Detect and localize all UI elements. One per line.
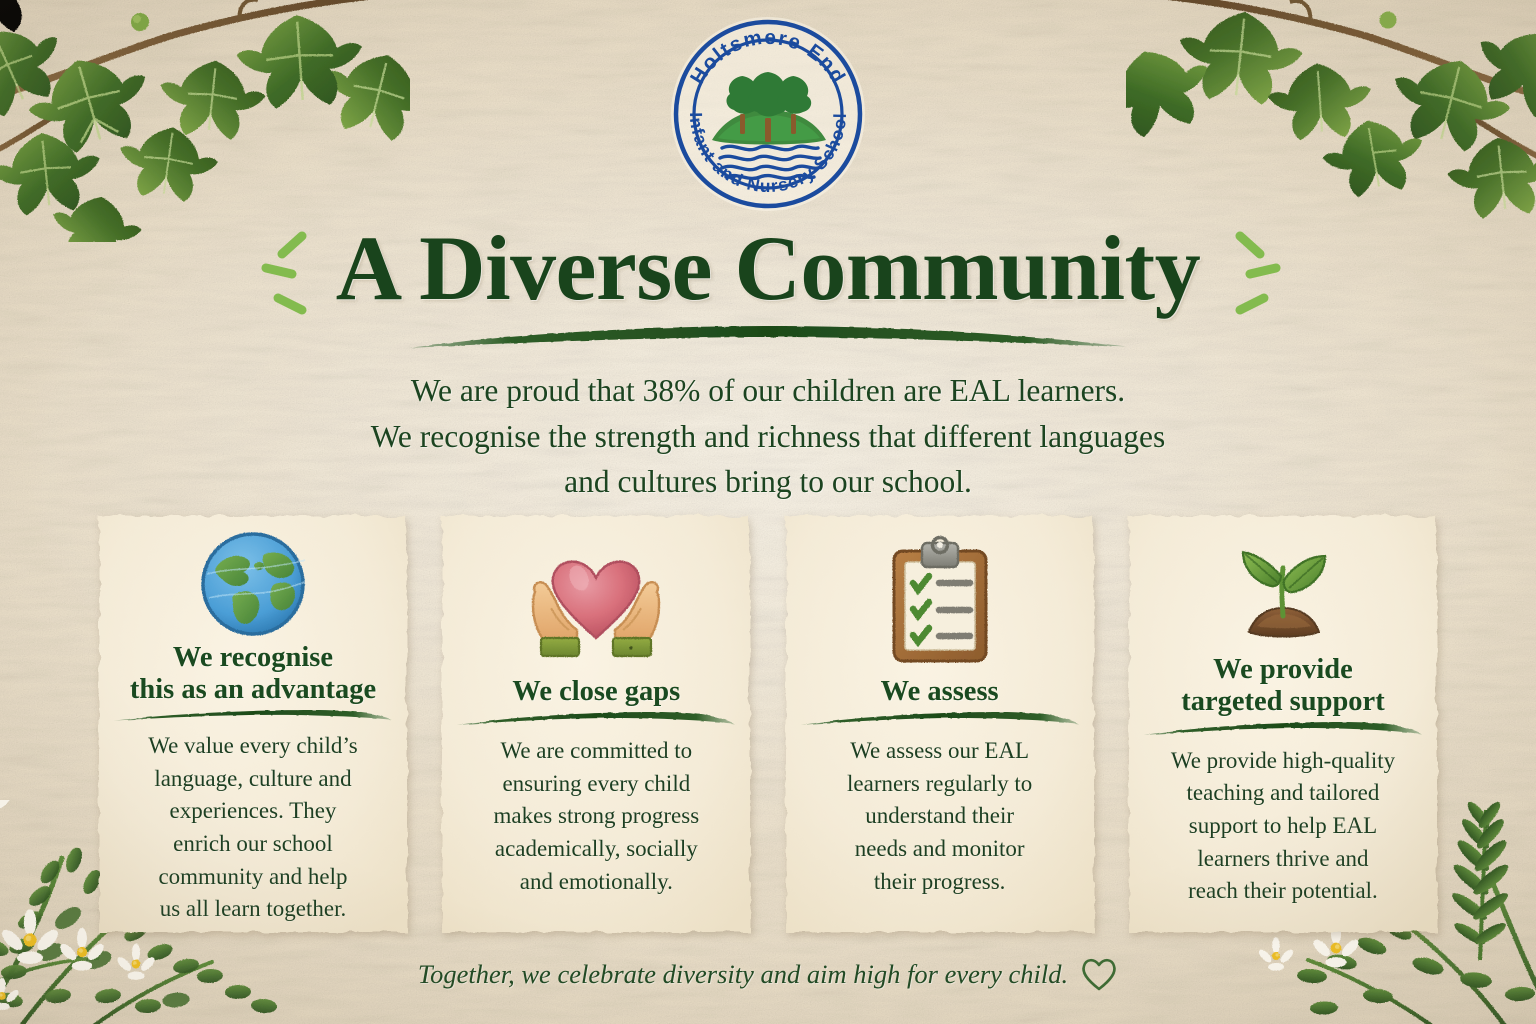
card-body: We provide high-quality teaching and tai… [1167,739,1399,908]
hands-holding-heart-icon [521,538,671,664]
card-body-line: ensuring every child [493,768,699,801]
card-divider-brush [799,712,1081,727]
subtitle-paragraph: We are proud that 38% of our children ar… [0,368,1536,505]
card-body-line: learners regularly to [847,768,1032,801]
footer-tagline: Together, we celebrate diversity and aim… [0,956,1536,992]
card-divider-brush [455,712,737,727]
card-body-line: understand their [847,800,1032,833]
subtitle-line-2: We recognise the strength and richness t… [0,414,1536,460]
heart-outline-icon [1080,956,1118,992]
sparkle-dashes-right-icon [1228,228,1284,324]
footer-text: Together, we celebrate diversity and aim… [418,959,1068,990]
card-body-line: We value every child’s [148,730,358,763]
card-heading-line-1: We recognise [130,642,376,674]
card-body: We assess our EAL learners regularly to … [843,729,1036,898]
card-we-recognise-this-as-an-advantage[interactable]: We recognise this as an advantage We val… [95,512,411,936]
card-body-line: experiences. They [148,795,358,828]
card-body-line: teaching and tailored [1171,777,1395,810]
card-heading: We close gaps [512,676,680,708]
card-body: We value every child’s language, culture… [144,724,362,926]
card-heading-line-1: We provide [1181,654,1384,686]
card-body-line: needs and monitor [847,833,1032,866]
seedling-sprout-icon [1221,528,1345,652]
card-body-line: makes strong progress [493,800,699,833]
card-body-line: enrich our school [148,828,358,861]
subtitle-line-3: and cultures bring to our school. [0,459,1536,505]
card-body-line: academically, socially [493,833,699,866]
card-heading-line-2: targeted support [1181,686,1384,718]
card-body-line: We provide high-quality [1171,745,1395,778]
card-heading: We assess [881,676,999,708]
clipboard-checklist-icon [884,535,996,667]
title-brush-underline [405,326,1131,352]
card-heading-line-1: We close gaps [512,676,680,708]
card-body-line: us all learn together. [148,893,358,926]
card-heading-line-2: this as an advantage [130,674,376,706]
card-body-line: support to help EAL [1171,810,1395,843]
globe-icon [195,526,311,642]
card-we-provide-targeted-support[interactable]: We provide targeted support We provide h… [1125,512,1441,936]
card-divider-brush [1142,722,1424,737]
card-body-line: and emotionally. [493,866,699,899]
card-body: We are committed to ensuring every child… [489,729,703,898]
card-body-line: We assess our EAL [847,735,1032,768]
feature-card-row: We recognise this as an advantage We val… [95,512,1441,936]
card-heading: We provide targeted support [1181,654,1384,718]
sparkle-dashes-left-icon [258,228,314,324]
card-body-line: their progress. [847,866,1032,899]
card-divider-brush [112,710,394,722]
school-crest-logo: Holtsmere End Infant and Nursery School [668,14,868,214]
card-body-line: language, culture and [148,763,358,796]
card-we-assess[interactable]: We assess We assess our EAL learners reg… [782,512,1098,936]
crest-svg: Holtsmere End Infant and Nursery School [668,14,868,214]
card-body-line: reach their potential. [1171,875,1395,908]
title-block: A Diverse Community [0,222,1536,357]
page-title: A Diverse Community [0,222,1536,316]
card-we-close-gaps[interactable]: We close gaps We are committed to ensuri… [438,512,754,936]
card-heading: We recognise this as an advantage [130,642,376,706]
subtitle-line-1: We are proud that 38% of our children ar… [0,368,1536,414]
card-heading-line-1: We assess [881,676,999,708]
card-body-line: learners thrive and [1171,843,1395,876]
card-body-line: We are committed to [493,735,699,768]
poster-canvas: Holtsmere End Infant and Nursery School … [0,0,1536,1024]
card-body-line: community and help [148,861,358,894]
